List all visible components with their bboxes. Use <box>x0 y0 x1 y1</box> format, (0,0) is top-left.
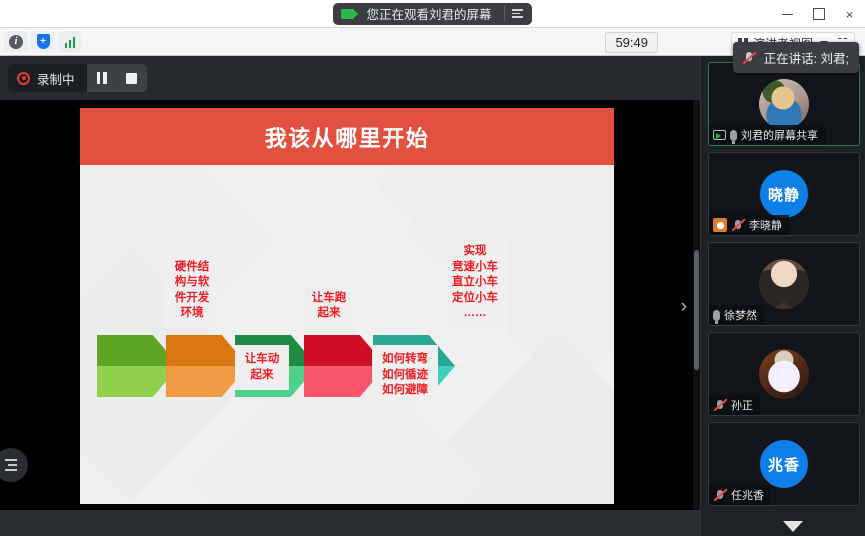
participant-name: 任兆香 <box>731 487 764 503</box>
label-line: 如何循迹 <box>379 368 431 384</box>
close-button[interactable]: × <box>834 0 865 28</box>
label-line: 让车跑 <box>309 291 349 307</box>
slide-label-step-1: 硬件结构与软件开发环境 <box>165 253 219 329</box>
slide-title: 我该从哪里开始 <box>265 121 430 153</box>
screen-share-banner[interactable]: 您正在观看刘君的屏幕 <box>333 3 531 25</box>
title-bar: 您正在观看刘君的屏幕 × <box>0 0 865 28</box>
label-line: 起来 <box>242 368 282 384</box>
slide-body: 硬件结构与软件开发环境让车跑起来实现竞速小车直立小车定位小车……让车动起来如何转… <box>80 165 614 504</box>
shield-plus-icon[interactable]: + <box>31 31 55 52</box>
chevron-down-icon[interactable] <box>783 521 803 532</box>
label-line: 件开发 <box>172 291 212 307</box>
label-line: 如何避障 <box>379 383 431 399</box>
hamburger-menu-icon[interactable] <box>504 6 528 22</box>
shared-screen-stage: 我该从哪里开始 硬件结构与软件开发环境让车跑起来实现竞速小车直立小车定位小车……… <box>0 100 700 510</box>
presentation-slide: 我该从哪里开始 硬件结构与软件开发环境让车跑起来实现竞速小车直立小车定位小车……… <box>80 108 614 504</box>
label-line: 定位小车 <box>449 291 501 307</box>
participant-name: 徐梦然 <box>724 307 757 323</box>
meeting-window: 您正在观看刘君的屏幕 × i + 59:49 演讲者视图 正在讲话: 刘君; 录… <box>0 0 865 536</box>
avatar: 兆香 <box>760 440 808 488</box>
slide-label-step-5: 实现竞速小车直立小车定位小车…… <box>442 237 508 329</box>
bottom-toolbar <box>0 510 700 536</box>
mic-on-icon <box>730 130 737 141</box>
participant-name: 李晓静 <box>749 217 782 233</box>
signal-bars-icon[interactable] <box>58 31 82 52</box>
window-controls: × <box>772 0 865 28</box>
participant-name-bar: 李晓静 <box>709 215 789 235</box>
recording-pill: 录制中 <box>8 64 147 92</box>
label-line: 环境 <box>172 306 212 322</box>
slide-label-step-4: 如何转弯如何循迹如何避障 <box>372 345 438 406</box>
list-menu-icon[interactable] <box>0 448 28 482</box>
participant-name-bar: 孙正 <box>709 395 760 415</box>
recording-label: 录制中 <box>37 69 75 88</box>
stop-recording-button[interactable] <box>117 64 147 92</box>
mic-muted-icon <box>731 219 745 232</box>
mic-muted-icon <box>742 51 756 64</box>
slide-label-step-2: 让车动起来 <box>235 345 289 390</box>
participant-tile[interactable]: 刘君的屏幕共享 <box>708 62 860 146</box>
avatar <box>759 349 809 399</box>
label-line: …… <box>449 306 501 322</box>
recording-bar: 录制中 <box>0 56 700 100</box>
label-line: 实现 <box>449 244 501 260</box>
participant-name-bar: 刘君的屏幕共享 <box>709 125 825 145</box>
label-line: 构与软 <box>172 275 212 291</box>
pause-recording-button[interactable] <box>87 64 117 92</box>
participant-name-bar: 徐梦然 <box>709 305 764 325</box>
recording-buttons <box>87 64 147 92</box>
label-line: 让车动 <box>242 352 282 368</box>
participants-panel[interactable]: 刘君的屏幕共享晓静李晓静徐梦然孙正兆香任兆香 <box>700 56 865 536</box>
avatar <box>759 79 809 129</box>
label-line: 直立小车 <box>449 275 501 291</box>
host-badge-icon <box>713 218 727 232</box>
label-line: 硬件结 <box>172 260 212 276</box>
share-banner-text: 您正在观看刘君的屏幕 <box>360 4 495 23</box>
participant-name: 孙正 <box>731 397 753 413</box>
mic-muted-icon <box>713 489 727 502</box>
stage-scrollbar[interactable] <box>693 100 700 510</box>
record-dot-icon <box>17 72 30 85</box>
mic-on-icon <box>713 310 720 321</box>
speaking-tooltip: 正在讲话: 刘君; <box>733 42 859 73</box>
maximize-button[interactable] <box>803 0 834 28</box>
participant-tile[interactable]: 晓静李晓静 <box>708 152 860 236</box>
participant-name: 刘君的屏幕共享 <box>741 127 818 143</box>
label-line: 起来 <box>309 306 349 322</box>
next-slide-arrow[interactable]: › <box>681 296 687 318</box>
participant-tile[interactable]: 孙正 <box>708 332 860 416</box>
avatar: 晓静 <box>760 170 808 218</box>
label-line: 如何转弯 <box>379 352 431 368</box>
participant-name-bar: 任兆香 <box>709 485 771 505</box>
meeting-timer: 59:49 <box>605 32 658 53</box>
participant-tile[interactable]: 徐梦然 <box>708 242 860 326</box>
avatar <box>759 259 809 309</box>
info-icon[interactable]: i <box>4 31 28 52</box>
slide-header: 我该从哪里开始 <box>80 108 614 165</box>
mic-muted-icon <box>713 399 727 412</box>
speaking-tooltip-text: 正在讲话: 刘君; <box>764 48 849 67</box>
label-line: 竞速小车 <box>449 260 501 276</box>
minimize-button[interactable] <box>772 0 803 28</box>
screen-share-icon <box>341 9 354 19</box>
slide-label-step-3: 让车跑起来 <box>302 284 356 329</box>
screen-share-icon <box>713 130 726 140</box>
participant-tile[interactable]: 兆香任兆香 <box>708 422 860 506</box>
recording-status: 录制中 <box>8 69 87 88</box>
